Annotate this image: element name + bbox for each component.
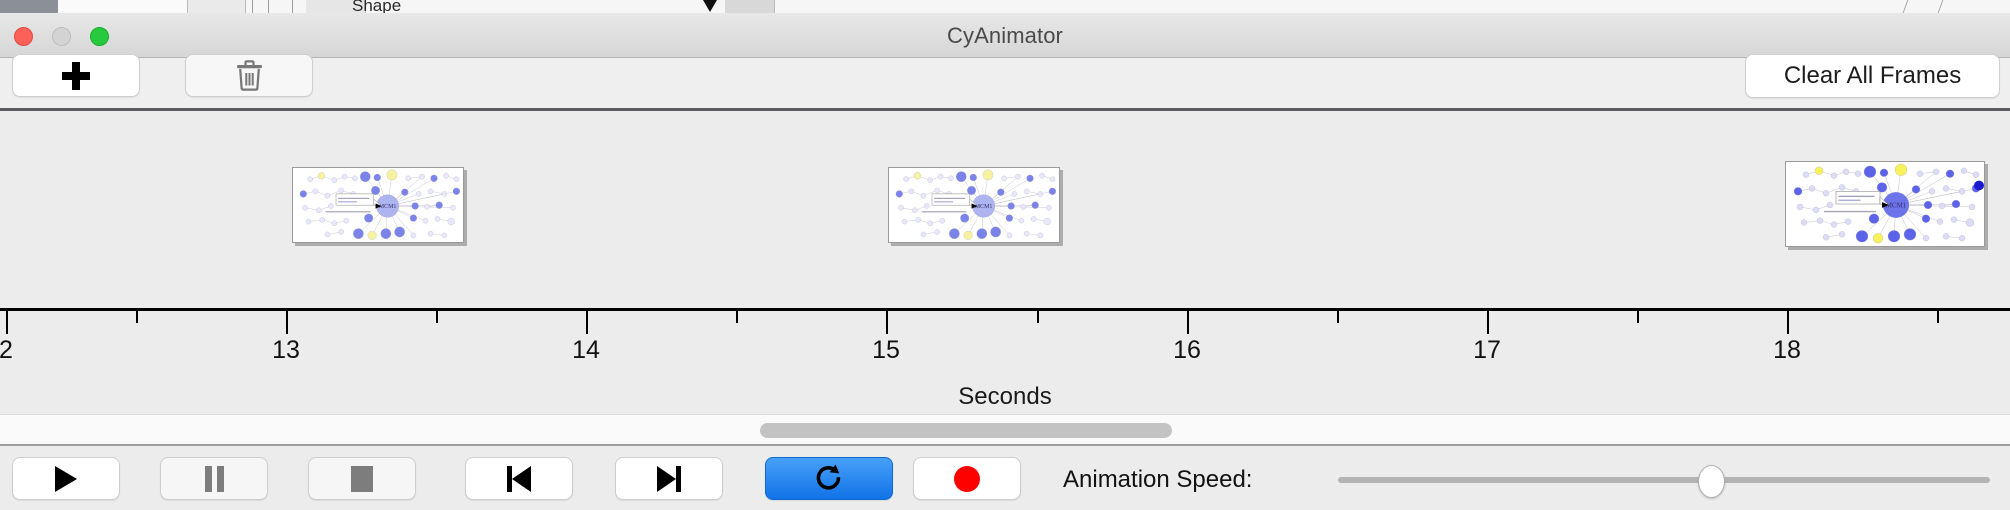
axis-tick-label: 14 bbox=[572, 336, 600, 365]
record-button[interactable] bbox=[913, 457, 1021, 500]
axis-tick-major bbox=[1487, 311, 1489, 334]
axis-tick-minor bbox=[1337, 311, 1339, 323]
axis-tick-minor bbox=[136, 311, 138, 323]
title-bar: CyAnimator bbox=[0, 13, 2010, 58]
axis-tick-major bbox=[1787, 311, 1789, 334]
play-button[interactable] bbox=[12, 457, 120, 500]
loop-button[interactable] bbox=[765, 457, 893, 500]
axis-tick-minor bbox=[1637, 311, 1639, 323]
stop-button[interactable] bbox=[308, 457, 416, 500]
pause-button[interactable] bbox=[160, 457, 268, 500]
delete-frame-button[interactable] bbox=[185, 54, 313, 97]
timeline-scrollbar[interactable] bbox=[0, 414, 2010, 446]
animation-speed-slider[interactable] bbox=[1338, 477, 1990, 483]
network-thumbnail: MCM1 bbox=[293, 168, 464, 243]
axis-tick-label: 13 bbox=[272, 336, 300, 365]
scrollbar-thumb[interactable] bbox=[760, 423, 1172, 438]
add-frame-button[interactable] bbox=[12, 54, 140, 97]
bg-divider bbox=[268, 0, 269, 13]
pause-icon bbox=[205, 466, 224, 492]
axis-tick-label: 15 bbox=[872, 336, 900, 365]
axis-tick-major bbox=[1187, 311, 1189, 334]
window-title: CyAnimator bbox=[0, 13, 2010, 58]
skip-to-end-button[interactable] bbox=[615, 457, 723, 500]
svg-text:MCM1: MCM1 bbox=[379, 204, 397, 210]
bg-tab bbox=[188, 0, 246, 13]
axis-tick-major bbox=[6, 311, 8, 334]
playback-control-bar: Animation Speed: bbox=[0, 448, 2010, 510]
animation-speed-label: Animation Speed: bbox=[1063, 466, 1252, 494]
bg-divider bbox=[292, 0, 293, 13]
plus-icon bbox=[62, 62, 90, 90]
network-thumbnail: MCM1 bbox=[1786, 162, 1985, 247]
network-thumbnail: MCM1 bbox=[889, 168, 1060, 243]
bg-wedge-marker bbox=[703, 0, 717, 12]
timeline-axis bbox=[0, 308, 2010, 311]
skip-to-start-icon bbox=[507, 466, 531, 492]
skip-to-end-icon bbox=[657, 466, 681, 492]
animation-speed-slider-thumb[interactable] bbox=[1698, 465, 1725, 498]
stop-icon bbox=[351, 466, 373, 492]
axis-tick-minor bbox=[436, 311, 438, 323]
clear-all-frames-label: Clear All Frames bbox=[1784, 62, 1961, 90]
axis-tick-minor bbox=[736, 311, 738, 323]
bg-slant bbox=[1938, 0, 1958, 13]
record-icon bbox=[954, 466, 980, 492]
axis-tick-label: 17 bbox=[1473, 336, 1501, 365]
axis-tick-minor bbox=[1937, 311, 1939, 323]
bg-dark-block bbox=[0, 0, 58, 13]
axis-title: Seconds bbox=[0, 383, 2010, 411]
axis-tick-major bbox=[586, 311, 588, 334]
loop-icon bbox=[814, 464, 844, 494]
svg-text:MCM1: MCM1 bbox=[975, 204, 993, 210]
bg-tab bbox=[725, 0, 775, 13]
timeline-frame-thumbnail[interactable]: MCM1 bbox=[888, 167, 1060, 243]
axis-tick-label: 16 bbox=[1173, 336, 1201, 365]
svg-text:MCM1: MCM1 bbox=[1886, 203, 1907, 210]
bg-tab bbox=[58, 0, 188, 13]
skip-to-start-button[interactable] bbox=[465, 457, 573, 500]
timeline-frame-thumbnail[interactable]: MCM1 bbox=[292, 167, 464, 243]
axis-tick-label: 18 bbox=[1773, 336, 1801, 365]
axis-tick-major bbox=[286, 311, 288, 334]
play-icon bbox=[55, 466, 77, 492]
timeline-panel[interactable]: MCM1 MCM1 MCM1 2131415161718 Seconds bbox=[0, 114, 2010, 414]
background-window-sliver: Shape bbox=[0, 0, 2010, 13]
axis-tick-minor bbox=[1037, 311, 1039, 323]
bg-divider bbox=[252, 0, 253, 13]
trash-icon bbox=[236, 60, 263, 91]
timeline-frame-thumbnail[interactable]: MCM1 bbox=[1785, 161, 1985, 247]
cyanimator-window: Shape CyAnimator Clear All Frames MCM1 bbox=[0, 0, 2010, 510]
bg-window-label: Shape bbox=[352, 0, 401, 13]
axis-tick-major bbox=[886, 311, 888, 334]
bg-slant bbox=[1903, 0, 1923, 13]
axis-tick-label: 2 bbox=[0, 336, 13, 365]
clear-all-frames-button[interactable]: Clear All Frames bbox=[1745, 54, 2000, 98]
